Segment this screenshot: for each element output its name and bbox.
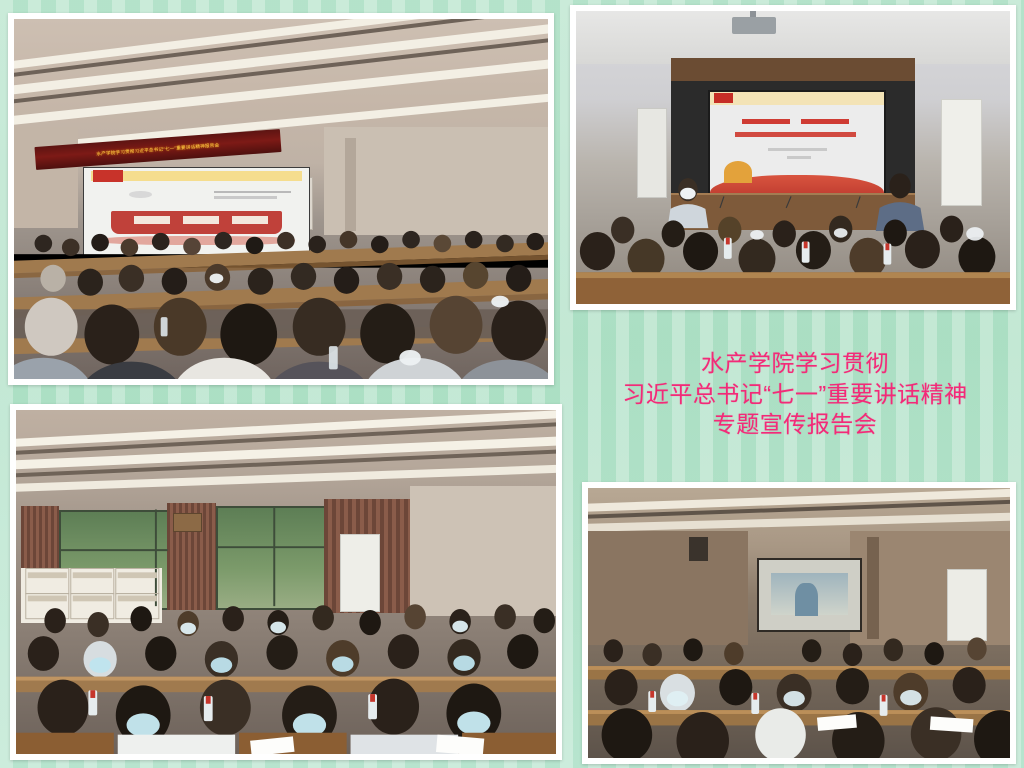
photo-hall-side[interactable] <box>582 482 1016 764</box>
caption-line-2: 习近平总书记“七一”重要讲话精神 <box>622 379 967 409</box>
photo-hall-front[interactable] <box>10 404 562 760</box>
photo-hall-front-image <box>16 410 556 754</box>
audience-crowd <box>14 19 548 379</box>
photo-stage[interactable] <box>570 5 1016 310</box>
audience-crowd <box>588 488 1010 758</box>
photo-hall-rear-image: 水产学院学习贯彻习近平总书记“七一”重要讲话精神报告会 <box>14 19 548 379</box>
caption-line-1: 水产学院学习贯彻 <box>701 348 889 378</box>
collage-caption: 水产学院学习贯彻 习近平总书记“七一”重要讲话精神 专题宣传报告会 <box>570 314 1020 474</box>
photo-hall-rear[interactable]: 水产学院学习贯彻习近平总书记“七一”重要讲话精神报告会 <box>8 13 554 385</box>
audience-crowd <box>16 410 556 754</box>
photo-hall-side-image <box>588 488 1010 758</box>
photo-stage-image <box>576 11 1010 304</box>
audience-crowd <box>576 11 1010 304</box>
caption-line-3: 专题宣传报告会 <box>713 409 878 439</box>
